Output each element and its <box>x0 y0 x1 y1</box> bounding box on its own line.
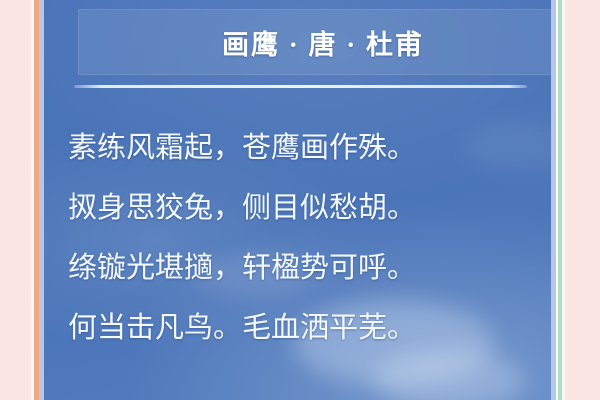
poem-card: 画鹰 · 唐 · 杜甫 素练风霜起，苍鹰画作殊。 㧐身思狡兔，侧目似愁胡。 绦镟… <box>0 0 600 400</box>
decorative-stripe-right-white-outer <box>562 0 565 400</box>
poem-line: 绦镟光堪擿，轩楹势可呼。 <box>44 238 551 298</box>
title-divider <box>74 85 527 88</box>
poem-line: 㧐身思狡兔，侧目似愁胡。 <box>44 178 551 238</box>
poem-line: 素练风霜起，苍鹰画作殊。 <box>44 118 551 178</box>
poem-line: 何当击凡鸟。毛血洒平芜。 <box>44 298 551 358</box>
page-title: 画鹰 · 唐 · 杜甫 <box>222 23 424 62</box>
poem-panel: 画鹰 · 唐 · 杜甫 素练风霜起，苍鹰画作殊。 㧐身思狡兔，侧目似愁胡。 绦镟… <box>44 0 551 400</box>
poem-title-box: 画鹰 · 唐 · 杜甫 <box>78 9 551 75</box>
poem-text-body: 素练风霜起，苍鹰画作殊。 㧐身思狡兔，侧目似愁胡。 绦镟光堪擿，轩楹势可呼。 何… <box>44 118 551 358</box>
